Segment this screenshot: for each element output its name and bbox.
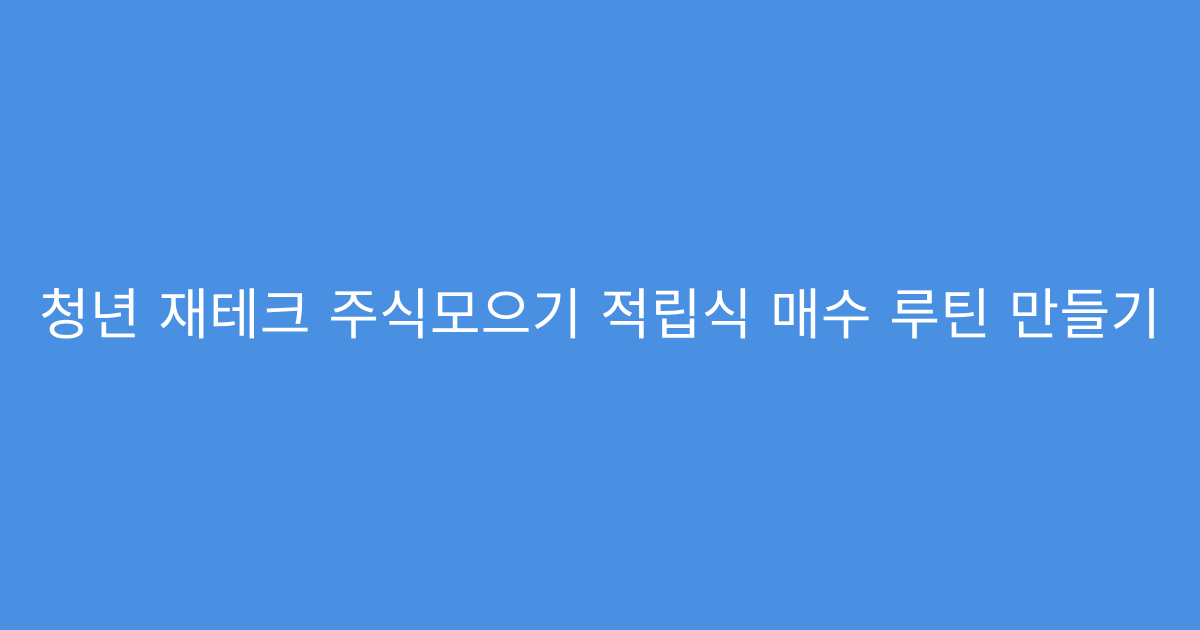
- card-content-container: 청년 재테크 주식모으기 적립식 매수 루틴 만들기: [60, 280, 1140, 350]
- page-title: 청년 재테크 주식모으기 적립식 매수 루틴 만들기: [39, 280, 1161, 350]
- social-share-card: 청년 재테크 주식모으기 적립식 매수 루틴 만들기: [0, 0, 1200, 630]
